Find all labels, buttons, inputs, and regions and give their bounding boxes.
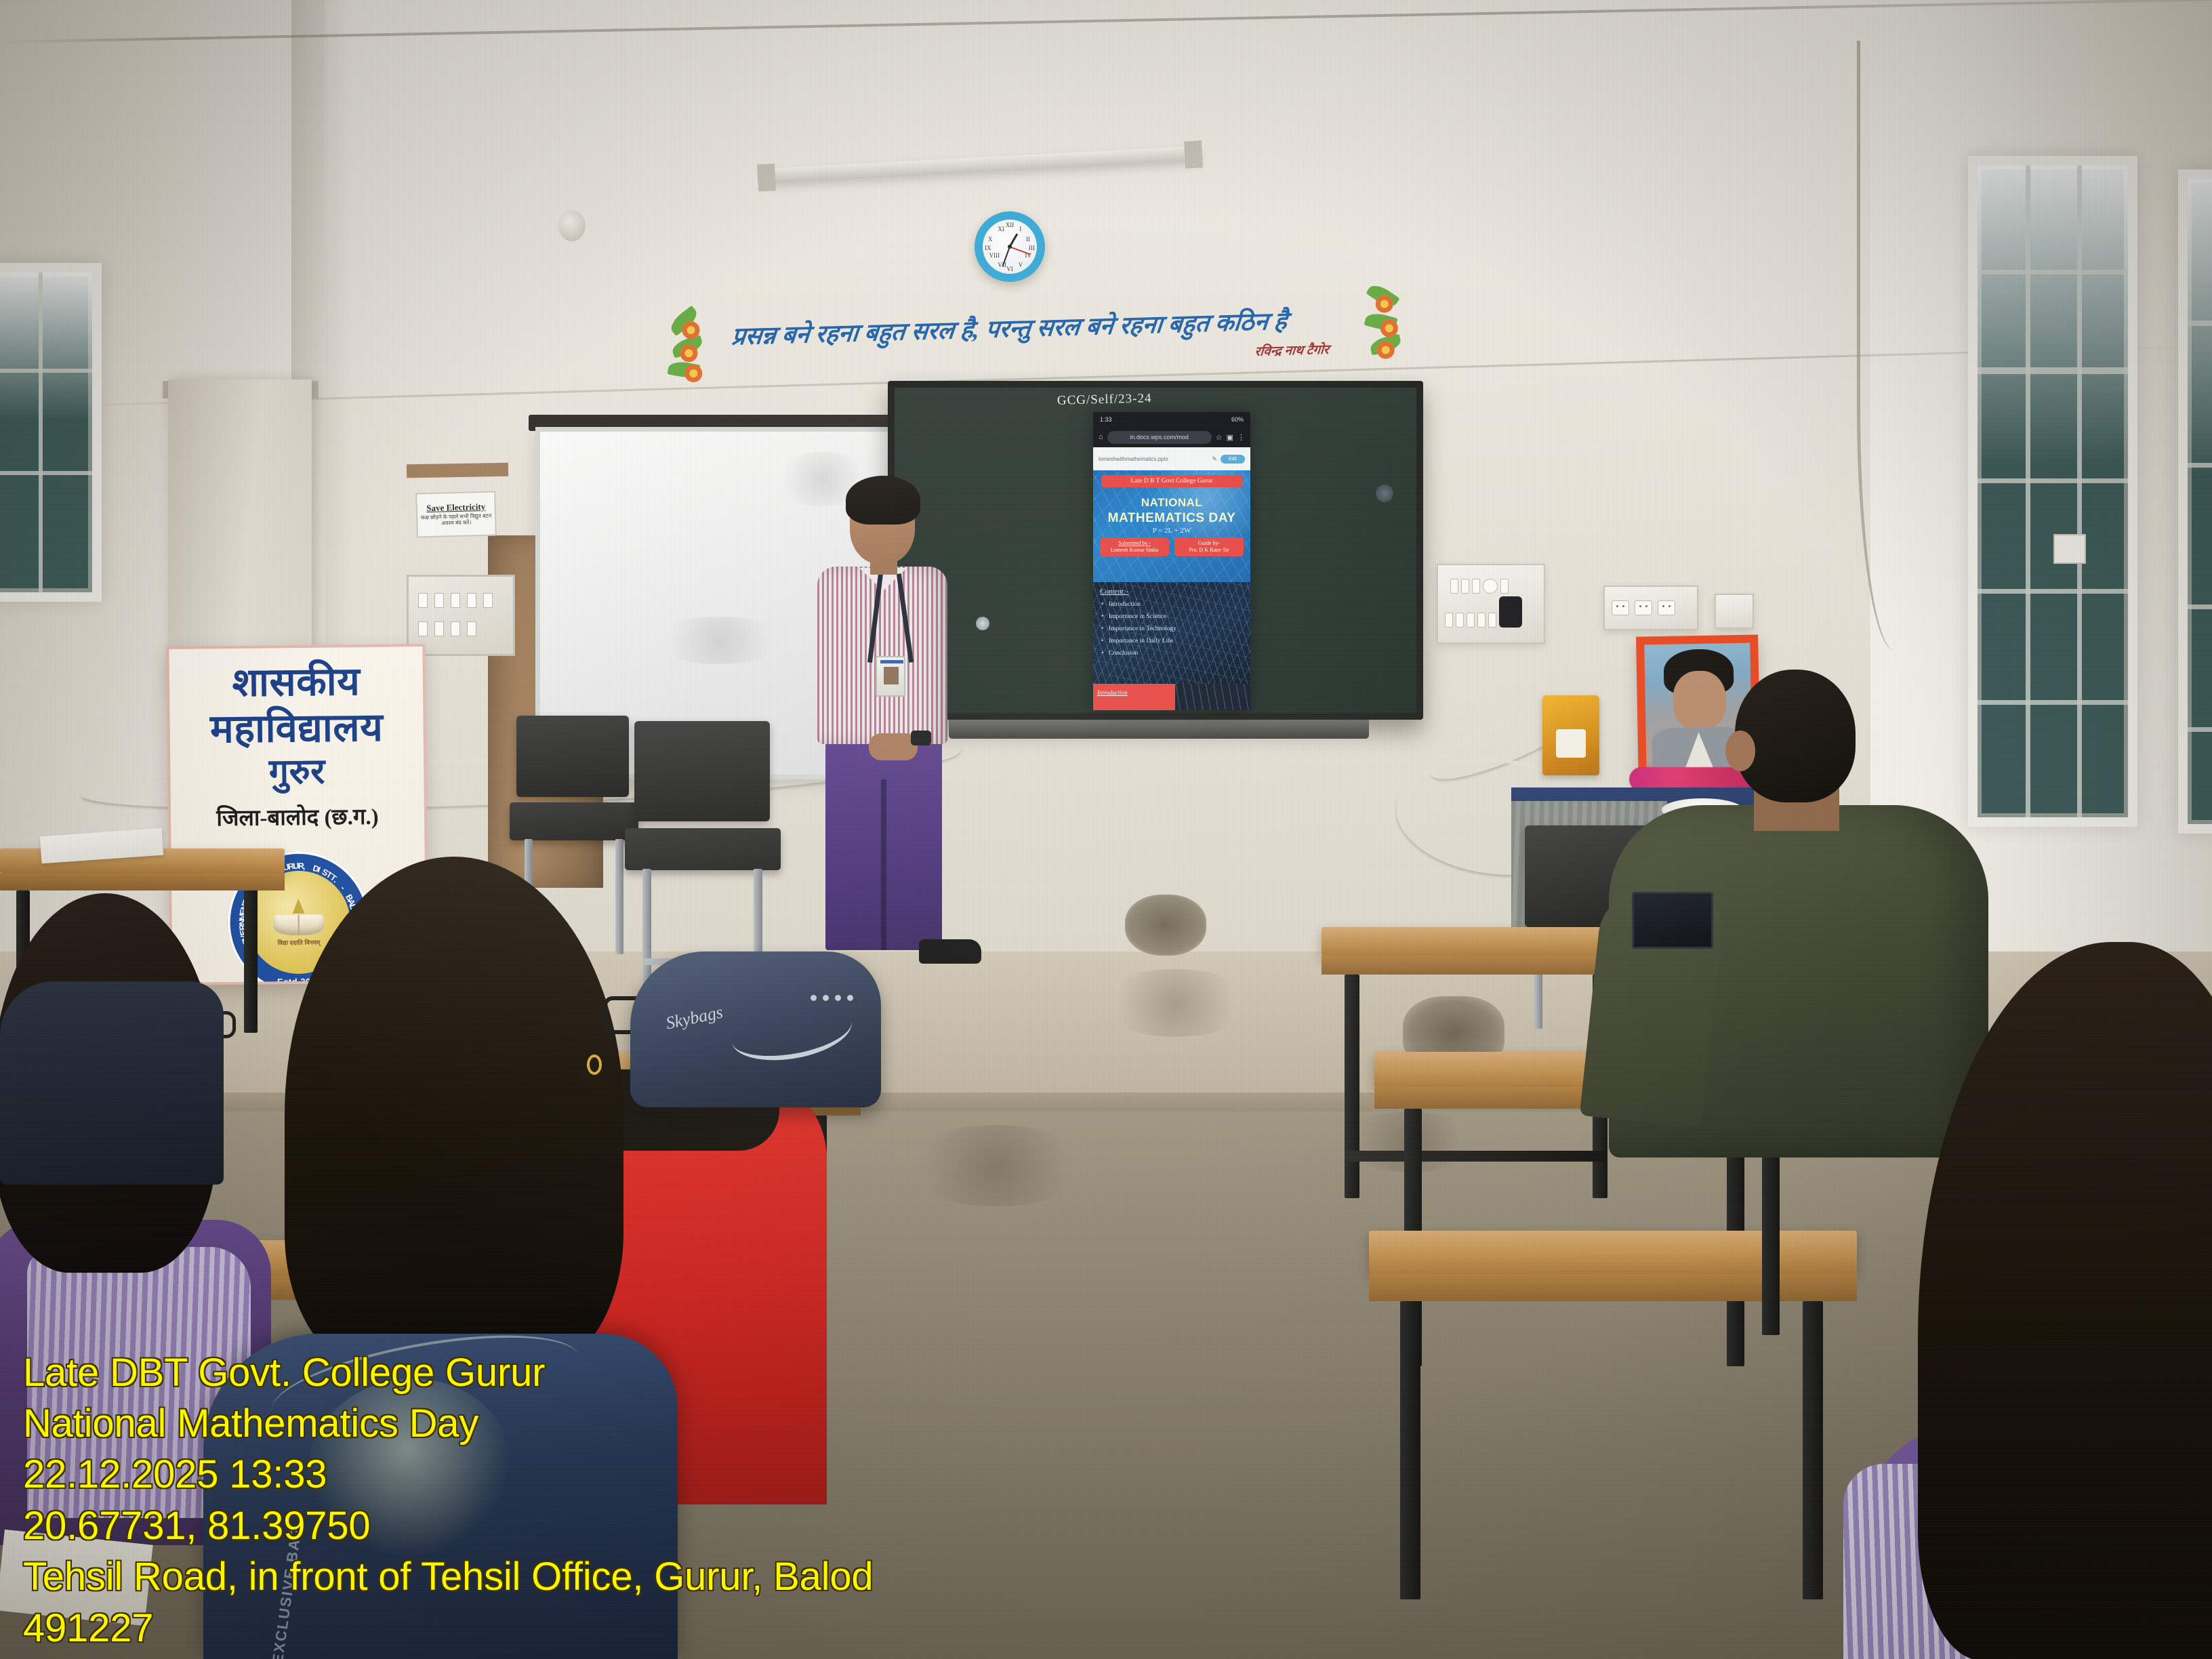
quote-decoration-right	[1361, 287, 1406, 359]
introduction-title: Introduction	[1093, 684, 1175, 710]
presenter-wristwatch	[911, 731, 931, 745]
window-right-1	[1968, 156, 2137, 827]
browser-url-bar[interactable]: ⌂ in.docs.wps.com/mod ☆ ▣ ⋮	[1093, 427, 1250, 447]
student2-earring	[587, 1054, 602, 1075]
clock-numeral: III	[1029, 245, 1035, 251]
clock-center-pin	[1008, 245, 1012, 249]
window-r1-mullion-v2	[2077, 165, 2082, 817]
presenter-id-card	[876, 656, 905, 697]
chair-leg	[615, 839, 623, 954]
status-battery: 60%	[1231, 416, 1244, 423]
flower-shape	[684, 365, 703, 383]
save-electricity-notice: Save Electricity कक्ष छोड़ने के पहले सभी…	[415, 491, 497, 537]
signboard-line-3: गुरुर	[170, 754, 424, 792]
power-socket[interactable]	[1635, 600, 1652, 615]
tube-light-bracket-left	[757, 163, 776, 191]
switchboard-row-top[interactable]	[1450, 579, 1509, 594]
display-bottom-bar	[949, 720, 1369, 739]
switch-key[interactable]	[1445, 613, 1453, 628]
presentation-slide-content: Content:- Introduction Importance in Sci…	[1093, 582, 1250, 684]
switch-key[interactable]	[1500, 579, 1509, 594]
student2-hair	[285, 857, 623, 1372]
presenter-trouser-seam	[881, 779, 886, 950]
power-socket[interactable]	[1612, 600, 1629, 615]
stamp-line-datetime: 22.12.2025 13:33	[23, 1449, 873, 1500]
window-left-mullion-h1	[0, 369, 92, 373]
content-bullet: Importance in Daily Life	[1100, 638, 1244, 644]
window-right-2	[2178, 169, 2212, 834]
presentation-slide-introduction: Introduction	[1093, 684, 1250, 710]
stamp-line-coordinates: 20.67731, 81.39750	[23, 1500, 873, 1551]
window-r1-mullion-h5	[1978, 700, 2128, 705]
flower-shape	[680, 344, 698, 363]
content-title: Content:-	[1100, 588, 1244, 596]
notice-title: Save Electricity	[426, 502, 485, 512]
slide-formula: P = 2L + 2W	[1093, 527, 1250, 535]
window-r2-mullion-h3	[2188, 605, 2212, 609]
backpack-far-left	[0, 981, 224, 1185]
bench-leg	[244, 890, 258, 1033]
document-toolbar[interactable]: lomeshwithmathematics.pptx ✎ Edit	[1093, 447, 1250, 470]
slide-title-line1: NATIONAL	[1093, 496, 1250, 510]
window-left-mullion-h2	[0, 471, 92, 475]
presenter-shirt	[817, 567, 947, 744]
wall-quote-text: प्रसन्न बने रहना बहुत सरल है, परन्तु सरल…	[730, 302, 1343, 352]
backpack-swoosh-graphic	[726, 994, 856, 1069]
tablet-device[interactable]	[1632, 892, 1713, 949]
overflow-menu-icon[interactable]: ⋮	[1237, 433, 1245, 442]
wall-damage-patch	[1125, 895, 1206, 956]
submitted-by-card: Submitted by - Lomesh Kumar Sinha	[1100, 537, 1169, 556]
socket-panel-right[interactable]	[1603, 586, 1698, 630]
clock-numeral: V	[1019, 262, 1023, 268]
signboard-line-2: महाविद्यालय	[169, 708, 424, 750]
clock-numeral: IX	[985, 245, 991, 251]
presenter-shoe	[919, 939, 981, 964]
switch-key[interactable]	[467, 593, 476, 608]
introduction-notes-area	[1175, 684, 1250, 710]
wall-clock: XII I II III IV V VI VII VIII IX X XI	[975, 211, 1045, 282]
portrait-face	[1673, 670, 1727, 730]
chair-leg	[642, 869, 651, 991]
notice-wood-strip	[407, 463, 508, 478]
submitted-by-label: Submitted by -	[1118, 540, 1151, 546]
window-right-1-glow	[1978, 165, 2128, 817]
chair-seat	[510, 802, 638, 840]
attendee-head	[1735, 670, 1856, 802]
floor-stain-1	[1098, 969, 1254, 1037]
backpack-dots-graphic	[811, 995, 853, 1001]
switch-key[interactable]	[1472, 579, 1480, 594]
window-r1-mullion-v1	[2026, 165, 2030, 817]
id-card-header-bar	[880, 660, 903, 663]
fan-regulator-knob[interactable]	[1483, 579, 1498, 594]
content-bullet: Importance in Technology	[1100, 626, 1244, 632]
switchboard-main[interactable]	[1437, 564, 1545, 644]
bench-desktop	[1322, 927, 1633, 956]
power-socket[interactable]	[1658, 600, 1675, 615]
quote-decoration-left	[667, 308, 711, 380]
clock-numeral: XI	[998, 226, 1004, 232]
switch-key[interactable]	[451, 593, 460, 608]
window-r1-mullion-h1	[1978, 270, 2128, 274]
wall-socket-box-right	[2053, 534, 2086, 564]
edit-icon[interactable]: ✎	[1212, 455, 1217, 463]
switch-key[interactable]	[418, 621, 428, 636]
home-icon[interactable]: ⌂	[1099, 433, 1103, 441]
bench-apron	[1322, 956, 1633, 975]
window-r2-mullion-h4	[2188, 727, 2212, 732]
guide-by-name: Pro. D K Ratre Sir	[1189, 547, 1229, 553]
chair-seat	[625, 828, 781, 870]
display-ir-sensor	[976, 617, 989, 630]
chair-backrest	[634, 721, 770, 821]
whiteboard-smudge-2	[652, 617, 787, 664]
display-brand-logo	[1376, 485, 1393, 502]
clock-numeral: XII	[1006, 222, 1015, 228]
stamp-line-event: National Mathematics Day	[23, 1398, 873, 1449]
power-plug[interactable]	[1499, 596, 1522, 628]
attendee-ear	[1725, 731, 1755, 771]
switch-key[interactable]	[467, 621, 476, 636]
switch-key[interactable]	[434, 621, 444, 636]
window-r2-mullion-h2	[2188, 463, 2212, 468]
bench-apron	[0, 873, 285, 890]
clock-numeral: X	[988, 236, 993, 243]
bench-leg	[1400, 1301, 1420, 1599]
window-r1-mullion-h3	[1978, 478, 2128, 483]
guide-by-card: Guide by- Pro. D K Ratre Sir	[1174, 537, 1244, 556]
slide-credits-row: Submitted by - Lomesh Kumar Sinha Guide …	[1093, 535, 1250, 556]
chair-backrest	[516, 716, 629, 797]
signboard-line-1: शासकीय	[169, 661, 424, 703]
signboard-line-4: जिला-बालोद (छ.ग.)	[171, 800, 424, 833]
tube-light-bracket-right	[1184, 140, 1203, 168]
clock-numeral: VI	[1006, 266, 1013, 272]
socket-row[interactable]	[1612, 600, 1675, 615]
window-r1-mullion-h2	[1978, 367, 2128, 374]
backpack-on-bench: Skybags	[630, 951, 881, 1107]
document-filename: lomeshwithmathematics.pptx	[1099, 456, 1168, 462]
window-r1-mullion-h4	[1978, 589, 2128, 594]
switch-key[interactable]	[1450, 579, 1458, 594]
clock-numeral: I	[1019, 226, 1021, 232]
phone-status-bar: 1:33 60%	[1093, 412, 1250, 427]
stamp-line-venue: Late DBT Govt. College Gurur	[23, 1347, 873, 1398]
window-left-glow	[0, 272, 92, 592]
presenter-hair	[846, 476, 920, 525]
clock-face: XII I II III IV V VI VII VIII IX X XI	[983, 220, 1037, 274]
switch-key[interactable]	[1477, 613, 1486, 628]
status-time: 1:33	[1100, 416, 1112, 423]
clock-numeral: VIII	[989, 252, 1000, 259]
presentation-slide-title: Late D B T Govt College Gurur NATIONAL M…	[1093, 470, 1250, 582]
gps-map-camera-stamp: Late DBT Govt. College Gurur National Ma…	[23, 1347, 873, 1654]
switch-key[interactable]	[418, 593, 428, 608]
bench-leg	[1345, 975, 1359, 1198]
wall-quote-author: रविन्द्र नाथ टैगोर	[1254, 340, 1330, 360]
flower-shape	[1375, 295, 1393, 313]
window-left	[0, 263, 102, 602]
emblem-ring-char	[307, 862, 311, 872]
switch-key[interactable]	[483, 593, 493, 608]
star-icon[interactable]: ☆	[1216, 433, 1223, 442]
bench-leg	[1803, 1301, 1823, 1599]
mirrored-phone-screen[interactable]: 1:33 60% ⌂ in.docs.wps.com/mod ☆ ▣ ⋮ lom…	[1093, 412, 1250, 710]
wall-hook	[558, 210, 586, 241]
edit-button[interactable]: Edit	[1221, 455, 1245, 464]
classroom-photograph: Save Electricity कक्ष छोड़ने के पहले सभी…	[0, 0, 2212, 1659]
id-card-photo	[884, 667, 899, 684]
window-left-mullion-v	[39, 272, 43, 592]
clock-second-hand	[1010, 246, 1031, 255]
socket-panel-far-right[interactable]	[1715, 594, 1754, 629]
stamp-line-pincode: 491227	[23, 1603, 873, 1654]
floor-stain-2	[901, 1125, 1091, 1206]
content-bullet: Conclusion	[1100, 650, 1244, 657]
switchboard-row-bottom[interactable]	[1445, 613, 1507, 628]
switch-key[interactable]	[451, 621, 460, 636]
url-text[interactable]: in.docs.wps.com/mod	[1107, 431, 1212, 444]
submitted-by-name: Lomesh Kumar Sinha	[1111, 547, 1158, 553]
clock-numeral: II	[1026, 236, 1030, 243]
content-bullet: Introduction	[1100, 601, 1244, 608]
switch-key[interactable]	[1488, 613, 1496, 628]
notice-body: कक्ष छोड़ने के पहले सभी विद्युत बटन अवश्…	[419, 512, 493, 527]
switch-key[interactable]	[1467, 613, 1475, 628]
switch-key[interactable]	[434, 593, 444, 608]
slide-header-banner: Late D B T Govt College Gurur	[1101, 475, 1242, 487]
ceiling-drop-cable	[1857, 41, 1952, 651]
window-r2-mullion-h1	[2188, 321, 2212, 326]
guide-by-label: Guide by-	[1198, 540, 1220, 546]
stamp-line-address: Tehsil Road, in front of Tehsil Office, …	[23, 1551, 873, 1602]
tabs-icon[interactable]: ▣	[1227, 433, 1233, 442]
switch-key[interactable]	[1461, 579, 1469, 594]
content-bullet: Importance in Science	[1100, 613, 1244, 620]
emblem-ring-char: ,	[303, 861, 306, 871]
snack-packet	[1542, 695, 1599, 775]
switch-key[interactable]	[1456, 613, 1464, 628]
backpack-brand-text: Skybags	[664, 1002, 725, 1033]
slide-title-line2: MATHEMATICS DAY	[1093, 511, 1250, 526]
flower-shape	[1376, 341, 1395, 359]
